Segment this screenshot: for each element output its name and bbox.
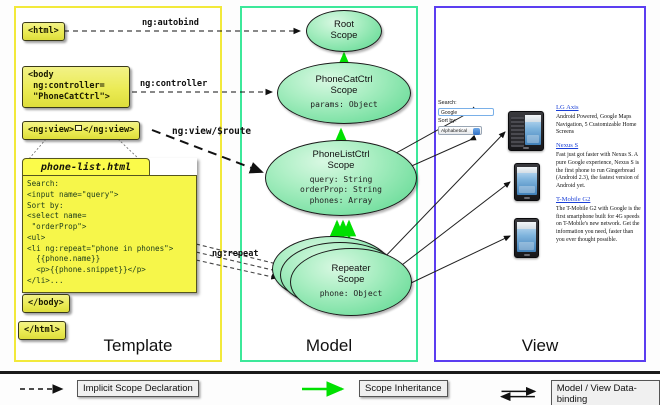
scope-repeater-name-2: Scope [338, 275, 365, 286]
diagram-canvas: Template Model View <html> <body ng:cont… [0, 0, 660, 405]
phone-screen [517, 167, 537, 195]
solid-green-arrow-icon [300, 381, 352, 397]
phone-link-t-mobile-g2[interactable]: T-Mobile G2 [556, 196, 642, 205]
sort-select[interactable]: Alphabetical [438, 126, 482, 135]
list-item: LG Axis Android Powered, Google Maps Nav… [556, 104, 642, 137]
code-card-phone-list: phone-list.html Search: <input name="que… [22, 158, 197, 293]
phone-thumbnail-nexus-s [514, 163, 540, 201]
tag-body-line1: <body [28, 70, 54, 80]
scope-repeater: Repeater Scope phone: Object [290, 248, 412, 316]
scope-root: Root Scope [306, 10, 382, 52]
column-title-model: Model [242, 336, 416, 356]
wire-label-ng-repeat: ng:repeat [212, 249, 259, 259]
tag-ngview: <ng:view></ng:view> [22, 121, 140, 140]
phone-home-button-icon [523, 147, 529, 149]
legend-item-scope-inheritance: Scope Inheritance [300, 380, 448, 397]
legend-label-scope-inheritance: Scope Inheritance [359, 380, 448, 397]
tag-html-open: <html> [22, 22, 65, 41]
phone-home-button-icon [524, 197, 530, 199]
wire-label-ng-controller: ng:controller [140, 79, 207, 89]
wire-label-ng-view-route: ng:view/$route [172, 126, 251, 137]
tag-body-close: </body> [22, 294, 70, 313]
search-input[interactable]: Google [438, 108, 494, 116]
search-label: Search: [438, 100, 494, 107]
dashed-arrow-icon [18, 381, 70, 397]
phone-list: LG Axis Android Powered, Google Maps Nav… [556, 104, 642, 249]
phone-thumbnail-lg-axis [508, 111, 544, 151]
scope-phonelistctrl-name-2: Scope [328, 161, 355, 172]
legend-divider [0, 371, 660, 374]
phone-screen [525, 115, 541, 145]
scope-phonecatctrl: PhoneCatCtrl Scope params: Object [277, 62, 411, 124]
legend-item-implicit-scope-declaration: Implicit Scope Declaration [18, 380, 199, 397]
scope-phonecatctrl-props: params: Object [310, 100, 377, 110]
scope-repeater-props: phone: Object [320, 289, 383, 299]
legend-label-data-binding: Model / View Data-binding [551, 380, 660, 405]
view-search-form: Search: Google Sort by: Alphabetical [438, 100, 494, 135]
column-title-view: View [436, 336, 644, 356]
placeholder-rect-icon [75, 125, 82, 131]
scope-root-name-2: Scope [331, 31, 358, 42]
list-item: T-Mobile G2 The T-Mobile G2 with Google … [556, 196, 642, 245]
scope-phonelistctrl: PhoneListCtrl Scope query: String orderP… [265, 140, 417, 216]
scope-phonelistctrl-props: query: String orderProp: String phones: … [300, 175, 382, 206]
tag-body-line3: "PhoneCatCtrl"> [28, 92, 110, 102]
phone-link-lg-axis[interactable]: LG Axis [556, 104, 642, 113]
scope-phonecatctrl-name-2: Scope [331, 86, 358, 97]
tag-ngview-open: <ng:view> [28, 125, 74, 135]
phone-thumbnail-t-mobile-g2 [514, 218, 539, 258]
tag-body-open: <body ng:controller= "PhoneCatCtrl"> [22, 66, 130, 108]
phone-snippet-nexus-s: Fast just got faster with Nexus S. A pur… [556, 152, 642, 191]
phone-snippet-lg-axis: Android Powered, Google Maps Navigation,… [556, 114, 642, 137]
wire-label-ng-autobind: ng:autobind [142, 18, 199, 28]
tag-html-close: </html> [18, 321, 66, 340]
code-card-title: phone-list.html [22, 158, 150, 175]
phone-link-nexus-s[interactable]: Nexus S [556, 142, 642, 151]
phone-screen [517, 222, 536, 252]
phone-home-button-icon [524, 254, 530, 256]
double-arrow-icon [498, 386, 544, 402]
legend-label-implicit-scope-declaration: Implicit Scope Declaration [77, 380, 199, 397]
list-item: Nexus S Fast just got faster with Nexus … [556, 142, 642, 191]
code-card-body: Search: <input name="query"> Sort by: <s… [22, 175, 197, 293]
tag-ngview-close: </ng:view> [83, 125, 134, 135]
tag-body-line2: ng:controller= [28, 81, 105, 91]
sort-label: Sort by: [438, 118, 494, 125]
legend: Implicit Scope Declaration Scope Inherit… [0, 378, 660, 404]
phone-snippet-t-mobile-g2: The T-Mobile G2 with Google is the first… [556, 206, 642, 245]
legend-item-data-binding: Model / View Data-binding [498, 380, 660, 405]
